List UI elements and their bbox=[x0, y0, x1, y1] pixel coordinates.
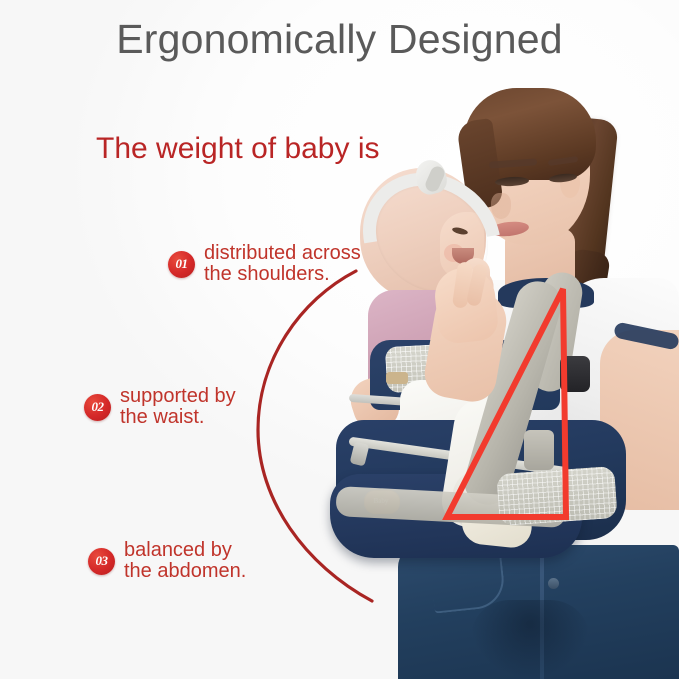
callout-text-02: supported by the waist. bbox=[120, 386, 236, 428]
callout-02: 02 supported by the waist. bbox=[84, 386, 236, 428]
page-subtitle: The weight of baby is bbox=[96, 132, 380, 166]
page-title: Ergonomically Designed bbox=[0, 16, 679, 63]
weight-distribution-triangle bbox=[447, 289, 566, 517]
callout-text-03: balanced by the abdomen. bbox=[124, 540, 246, 582]
weight-distribution-arc bbox=[258, 271, 372, 601]
callout-badge-03: 03 bbox=[88, 548, 115, 575]
callout-text-01: distributed across the shoulders. bbox=[204, 243, 361, 285]
callout-03: 03 balanced by the abdomen. bbox=[88, 540, 246, 582]
product-infographic: Baby Ergonomically Designed The weight o… bbox=[0, 0, 679, 679]
callout-01: 01 distributed across the shoulders. bbox=[168, 243, 361, 285]
callout-badge-01: 01 bbox=[168, 251, 195, 278]
callout-badge-02: 02 bbox=[84, 394, 111, 421]
